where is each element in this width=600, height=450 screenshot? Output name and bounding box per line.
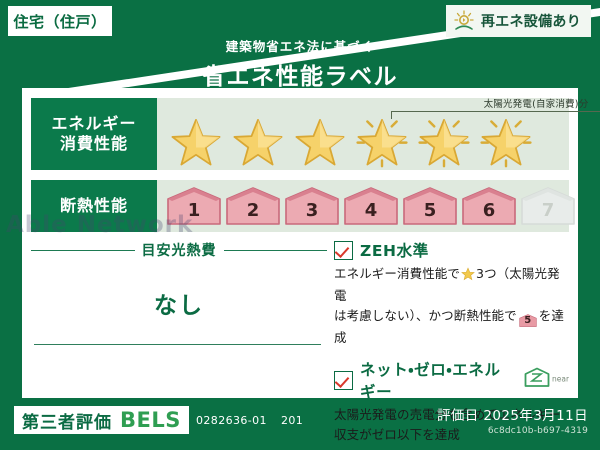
utility-cost-heading: 目安光熱費: [31, 240, 327, 260]
certificate-number-group: 0282636-01201: [196, 414, 303, 427]
criterion-zeh-standard: ZEH水準 エネルギー消費性能で3つ（太陽光発電は考慮しない）、かつ断熱性能で5…: [334, 239, 569, 347]
zeh-standard-description: エネルギー消費性能で3つ（太陽光発電は考慮しない）、かつ断熱性能で5を達成: [334, 264, 569, 347]
criterion-net-zero-head: ネット・ゼロ・エネルギー nearly: [334, 358, 569, 402]
label-title-main: 省エネ性能ラベル: [0, 57, 600, 91]
evaluation-date-value: 2025年3月11日: [483, 408, 588, 424]
solar-annotation-text: 太陽光発電(自家消費)分: [391, 100, 600, 110]
label-title: 建築物省エネ法に基づく 省エネ性能ラベル: [0, 36, 600, 91]
star-base: [229, 115, 287, 167]
insulation-level-number: 3: [306, 200, 319, 221]
inline-house-badge: 5: [519, 313, 537, 328]
zeh-house-logo-icon: nearly: [523, 366, 569, 394]
insulation-level-3: 3: [285, 187, 339, 225]
label-card: エネルギー 消費性能 太陽光発電(自家消費)分: [22, 88, 578, 398]
energy-rating-panel: 太陽光発電(自家消費)分: [157, 98, 569, 170]
insulation-level-number: 2: [247, 200, 260, 221]
insulation-performance-row: 断熱性能 1 2 3 4 5 6: [22, 180, 578, 232]
star-solar: [353, 115, 411, 167]
criteria-section: ZEH水準 エネルギー消費性能で3つ（太陽光発電は考慮しない）、かつ断熱性能で5…: [334, 238, 569, 394]
criterion-zeh-standard-head: ZEH水準: [334, 239, 569, 261]
heading-rule-left: [31, 250, 135, 251]
zeh-desc-line2-pre: は考慮しない）、かつ断熱性能で: [334, 308, 517, 323]
zeh-standard-checkbox[interactable]: [334, 241, 353, 260]
energy-performance-label-box: エネルギー 消費性能: [31, 98, 157, 170]
solar-generation-annotation: 太陽光発電(自家消費)分: [391, 100, 600, 119]
heading-rule-right: [224, 250, 328, 251]
label-footer: 第三者評価 BELS 0282636-01201 評価日 2025年3月11日 …: [0, 398, 600, 450]
zeh-desc-part1: エネルギー消費性能で: [334, 266, 460, 281]
zeh-standard-title: ZEH水準: [360, 239, 429, 261]
bels-badge: 第三者評価 BELS: [14, 406, 189, 434]
label-title-sub: 建築物省エネ法に基づく: [0, 36, 600, 55]
insulation-level-number: 1: [188, 200, 201, 221]
renewable-equipment-text: 再エネ設備あり: [481, 11, 581, 31]
evaluation-date-label: 評価日: [437, 408, 479, 424]
utility-cost-section: 目安光熱費 なし: [31, 238, 327, 394]
insulation-level-number: 7: [542, 200, 555, 221]
svg-text:nearly: nearly: [552, 375, 569, 384]
insulation-label-text: 断熱性能: [60, 196, 128, 216]
insulation-level-5: 5: [403, 187, 457, 225]
insulation-level-scale: 1 2 3 4 5 6 7: [167, 187, 575, 225]
evaluation-date-group: 評価日 2025年3月11日 6c8dc10b-b697-4319: [437, 404, 588, 436]
insulation-level-6: 6: [462, 187, 516, 225]
star-solar: [477, 115, 535, 167]
insulation-level-number: 6: [483, 200, 496, 221]
solar-annotation-bracket: [391, 111, 600, 119]
unit-number: 201: [281, 414, 303, 427]
net-zero-checkbox[interactable]: [334, 371, 353, 390]
energy-star-rating: [167, 115, 563, 167]
inline-house-level: 5: [524, 315, 531, 326]
energy-performance-label: 住宅（住戸） 再エネ設備あり 建築物省エネ法に基づく 省エネ性能ラベル エネルギ…: [0, 0, 600, 450]
inline-star-icon: [461, 267, 475, 286]
energy-label-line2: 消費性能: [60, 134, 128, 154]
net-zero-title: ネット・ゼロ・エネルギー: [360, 358, 512, 402]
sun-icon: [452, 9, 476, 33]
insulation-rating-panel: 1 2 3 4 5 6 7: [157, 180, 569, 232]
insulation-level-number: 5: [424, 200, 437, 221]
star-base: [291, 115, 349, 167]
label-lower-section: 目安光熱費 なし ZEH水準 エネルギー消費性能で3つ（太陽光発電は考慮しない）…: [22, 238, 578, 398]
insulation-level-4: 4: [344, 187, 398, 225]
star-base: [167, 115, 225, 167]
insulation-level-number: 4: [365, 200, 378, 221]
utility-cost-heading-text: 目安光熱費: [142, 240, 217, 260]
building-type-text: 住宅（住戸）: [13, 11, 106, 32]
third-party-eval-label: 第三者評価: [22, 408, 112, 433]
evaluation-date-line: 評価日 2025年3月11日: [437, 404, 588, 424]
building-type-tag: 住宅（住戸）: [8, 6, 112, 36]
insulation-level-2: 2: [226, 187, 280, 225]
insulation-level-7: 7: [521, 187, 575, 225]
insulation-level-1: 1: [167, 187, 221, 225]
energy-performance-row: エネルギー 消費性能 太陽光発電(自家消費)分: [22, 98, 578, 170]
star-solar: [415, 115, 473, 167]
renewable-equipment-badge: 再エネ設備あり: [446, 5, 591, 37]
bels-logo-text: BELS: [120, 408, 181, 432]
energy-label-line1: エネルギー: [51, 114, 136, 134]
certificate-number: 0282636-01: [196, 414, 267, 427]
utility-cost-value: なし: [31, 286, 327, 320]
document-hash: 6c8dc10b-b697-4319: [437, 426, 588, 436]
utility-cost-divider: [34, 344, 321, 345]
insulation-performance-label-box: 断熱性能: [31, 180, 157, 232]
zeh-desc-star-count: 3つ: [476, 266, 497, 281]
